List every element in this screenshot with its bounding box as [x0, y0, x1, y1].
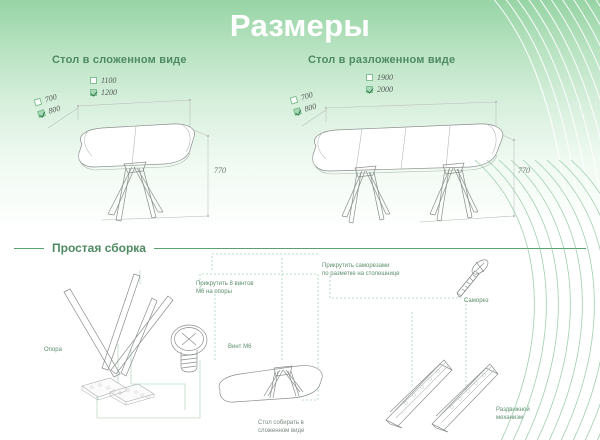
mechanism-label: Раздвижной механизм: [496, 406, 530, 422]
option-row[interactable]: 1900: [366, 72, 393, 83]
leg-part-drawing: [48, 268, 188, 408]
screw-instruction-label: Прикрутить саморезами по разметке на сто…: [322, 262, 400, 278]
panel-title-extended: Стол в разложенном виде: [308, 54, 558, 66]
checkbox-unchecked-icon[interactable]: [290, 96, 299, 105]
table-drawing-extended: [300, 88, 540, 228]
folded-table-note-drawing: [212, 352, 332, 412]
table-note-label: Стол собирать в сложенном виде: [258, 419, 304, 435]
checkbox-unchecked-icon[interactable]: [90, 77, 97, 84]
bolt-instruction-label: Прикрутить 8 винтов М6 на опоры: [196, 280, 254, 296]
option-row[interactable]: 1100: [90, 75, 117, 86]
checkbox-unchecked-icon[interactable]: [366, 74, 373, 81]
dimension-panel-folded: Стол в сложенном виде 1100 1200 700 800: [52, 54, 282, 66]
infographic-page: Размеры Стол в сложенном виде 1100 1200 …: [0, 0, 600, 440]
bolt-label: Винт М6: [228, 343, 251, 351]
self-tapping-screw-icon: [452, 258, 492, 300]
page-title: Размеры: [0, 8, 600, 44]
leg-label: Опора: [44, 346, 62, 354]
option-value: 1900: [377, 73, 393, 82]
checkbox-unchecked-icon[interactable]: [34, 98, 43, 107]
screw-label: Саморез: [464, 297, 489, 305]
panel-title-folded: Стол в сложенном виде: [52, 54, 282, 66]
dimension-panel-extended: Стол в разложенном виде 1900 2000 700 80…: [308, 54, 558, 66]
height-dimension-folded: 770: [214, 166, 226, 175]
height-dimension-extended: 770: [518, 166, 530, 175]
option-value: 1100: [101, 76, 116, 85]
table-drawing-folded: [42, 88, 252, 228]
